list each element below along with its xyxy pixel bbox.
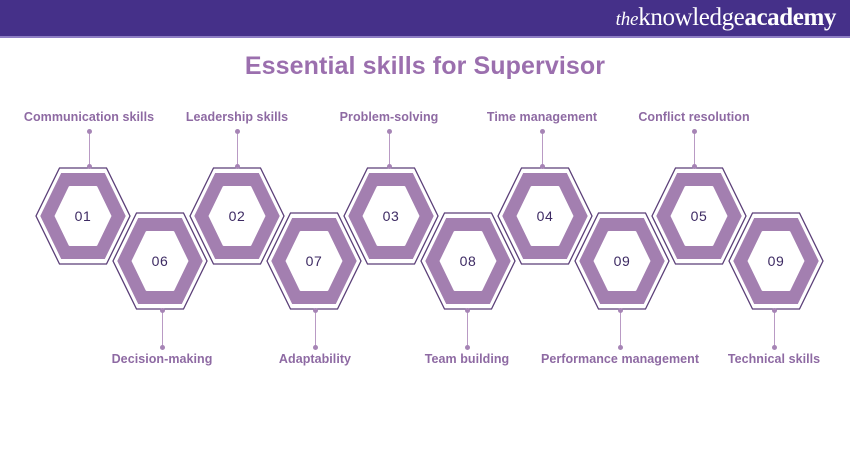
connector-dot <box>772 345 777 350</box>
connector-line-bottom-09 <box>620 310 621 348</box>
connector-line-bottom-06 <box>162 310 163 348</box>
connector-dot <box>87 164 92 169</box>
hexagon-label-04: Time management <box>487 110 597 124</box>
connector-dot <box>540 129 545 134</box>
connector-dot <box>465 308 470 313</box>
connector-line-top-03 <box>389 131 390 167</box>
connector-dot <box>160 345 165 350</box>
hexagon-label-07: Adaptability <box>279 352 351 366</box>
hexagon-label-03: Problem-solving <box>340 110 439 124</box>
connector-dot <box>618 345 623 350</box>
hexagon-label-06: Decision-making <box>112 352 213 366</box>
connector-dot <box>772 308 777 313</box>
connector-line-bottom-07 <box>315 310 316 348</box>
connector-line-bottom-09 <box>774 310 775 348</box>
connector-dot <box>313 345 318 350</box>
connector-line-top-04 <box>542 131 543 167</box>
connector-dot <box>87 129 92 134</box>
connector-dot <box>387 164 392 169</box>
hexagon-08-bottom_row[interactable]: 08 <box>420 212 516 310</box>
connector-dot <box>235 129 240 134</box>
hexagon-label-02: Leadership skills <box>186 110 288 124</box>
hexagon-label-01: Communication skills <box>24 110 154 124</box>
connector-dot <box>387 129 392 134</box>
hexagon-07-bottom_row[interactable]: 07 <box>266 212 362 310</box>
connector-dot <box>618 308 623 313</box>
connector-dot <box>313 308 318 313</box>
connector-line-top-02 <box>237 131 238 167</box>
hexagon-label-09: Performance management <box>541 352 699 366</box>
connector-line-top-01 <box>89 131 90 167</box>
connector-dot <box>160 308 165 313</box>
hexagon-label-05: Conflict resolution <box>638 110 749 124</box>
connector-dot <box>692 164 697 169</box>
hexagon-06-bottom_row[interactable]: 06 <box>112 212 208 310</box>
hexagon-09-bottom_row[interactable]: 09 <box>574 212 670 310</box>
connector-line-bottom-08 <box>467 310 468 348</box>
connector-dot <box>692 129 697 134</box>
connector-dot <box>465 345 470 350</box>
hexagon-label-08: Team building <box>425 352 509 366</box>
hexagon-09-bottom_row[interactable]: 09 <box>728 212 824 310</box>
infographic-page: theknowledgeacademy Essential skills for… <box>0 0 850 450</box>
connector-line-top-05 <box>694 131 695 167</box>
hexagon-diagram: 01Communication skills02Leadership skill… <box>0 0 850 450</box>
hexagon-label-09: Technical skills <box>728 352 820 366</box>
connector-dot <box>235 164 240 169</box>
connector-dot <box>540 164 545 169</box>
